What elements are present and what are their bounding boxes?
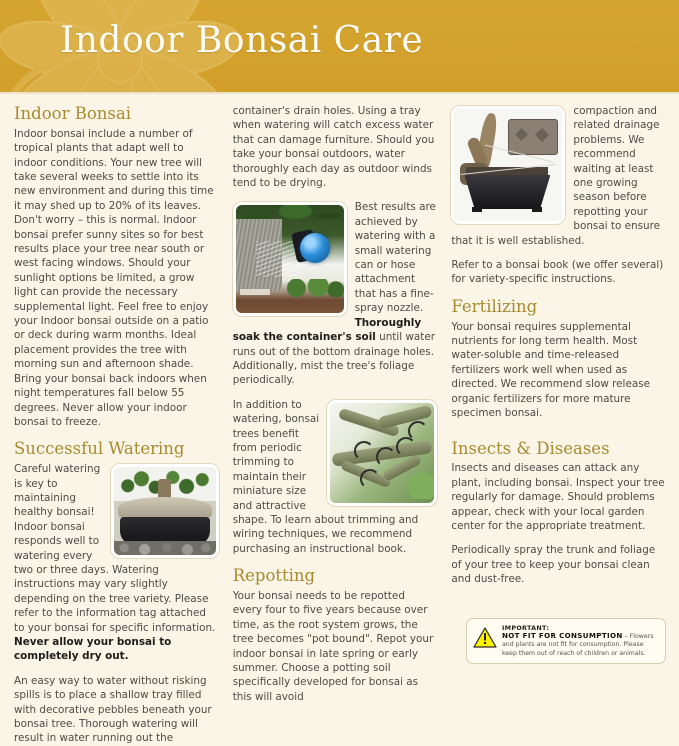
heading-fertilizing: Fertilizing — [451, 297, 665, 317]
column-3: compaction and related drainage problems… — [451, 104, 665, 669]
warning-text: IMPORTANT: NOT FIT FOR CONSUMPTION – Flo… — [502, 624, 658, 658]
important-warning-box: IMPORTANT: NOT FIT FOR CONSUMPTION – Flo… — [466, 618, 666, 664]
heading-insects-diseases: Insects & Diseases — [451, 439, 665, 459]
warning-box-container: IMPORTANT: NOT FIT FOR CONSUMPTION – Flo… — [466, 618, 666, 664]
content-columns: Indoor Bonsai Indoor bonsai include a nu… — [0, 94, 679, 669]
paragraph-insects-1: Insects and diseases can attack any plan… — [451, 461, 665, 533]
paragraph-drain-holes: container's drain holes. Using a tray wh… — [233, 104, 438, 190]
bonsai-care-page: Indoor Bonsai Care Indoor Bonsai Indoor … — [0, 0, 679, 679]
repotting-pot-with-drainage-screens-photo — [451, 106, 565, 224]
heading-indoor-bonsai: Indoor Bonsai — [14, 104, 219, 124]
page-header: Indoor Bonsai Care — [0, 0, 679, 94]
warning-line-not-fit: NOT FIT FOR CONSUMPTION — [502, 631, 623, 640]
column-2: container's drain holes. Using a tray wh… — [233, 104, 438, 669]
paragraph-insects-2: Periodically spray the trunk and foliage… — [451, 543, 665, 586]
heading-repotting: Repotting — [233, 566, 438, 586]
paragraph-refer-book: Refer to a bonsai book (we offer several… — [451, 258, 665, 287]
paragraph-tray-method: An easy way to water without risking spi… — [14, 674, 219, 746]
best-results-lead: Best results are achieved by watering wi… — [355, 201, 436, 314]
paragraph-indoor-bonsai: Indoor bonsai include a number of tropic… — [14, 127, 219, 430]
column-1: Indoor Bonsai Indoor bonsai include a nu… — [14, 104, 219, 669]
bonsai-pot-with-pebbles-photo — [111, 464, 219, 558]
wired-bonsai-branch-photo — [327, 400, 437, 506]
paragraph-fertilizing: Your bonsai requires supplemental nutrie… — [451, 320, 665, 421]
heading-successful-watering: Successful Watering — [14, 439, 219, 459]
watering-nozzle-spray-photo — [233, 202, 347, 316]
paragraph-repotting: Your bonsai needs to be repotted every f… — [233, 589, 438, 704]
page-title: Indoor Bonsai Care — [60, 20, 423, 61]
watering-bold: Never allow your bonsai to completely dr… — [14, 636, 171, 662]
warning-triangle-icon — [473, 627, 497, 648]
